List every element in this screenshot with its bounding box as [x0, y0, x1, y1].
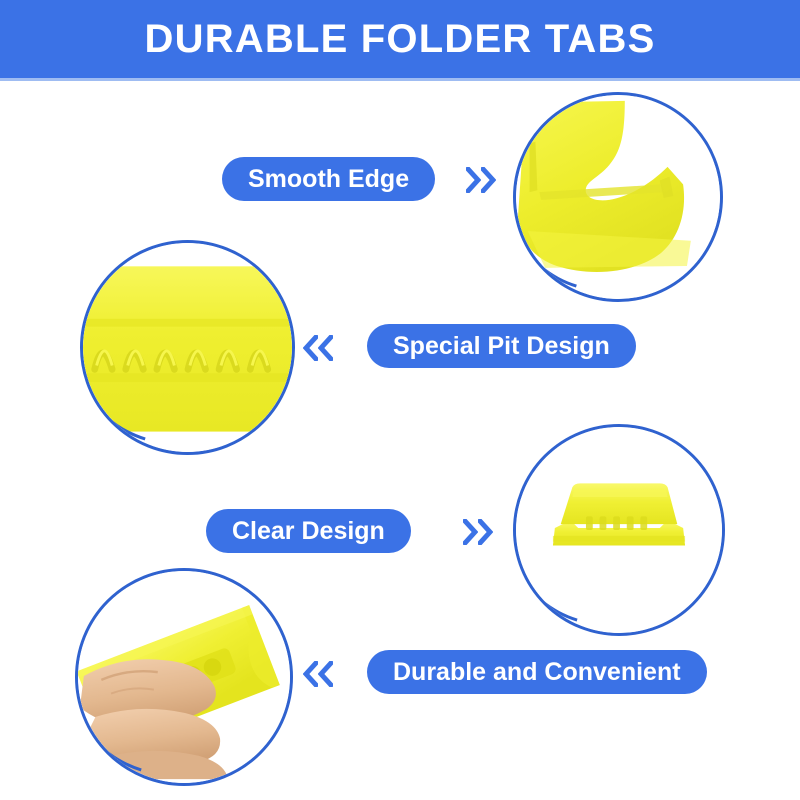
double-chevron-left-icon [303, 654, 333, 694]
flange-shadow-line [553, 536, 685, 542]
product-infographic: DURABLE FOLDER TABS Smooth Edge [0, 0, 800, 800]
chevron-left-icon [318, 661, 333, 687]
double-chevron-left-icon [303, 328, 333, 368]
tab-surface [83, 266, 292, 431]
feature-label-smooth-edge[interactable]: Smooth Edge [222, 157, 435, 201]
feature-row-special-pit-design: Special Pit Design [0, 238, 800, 453]
hand-holding-tab-illustration [78, 571, 290, 783]
header-underline-divider [0, 78, 800, 81]
chevron-right-icon [478, 519, 493, 545]
page-title: DURABLE FOLDER TABS [145, 19, 656, 59]
surface-seam-upper [83, 319, 292, 327]
feature-label-text: Durable and Convenient [393, 660, 681, 685]
chevron-right-icon [466, 167, 481, 193]
chevron-left-icon [303, 661, 318, 687]
chevron-right-icon [481, 167, 496, 193]
folder-tab-pit-pattern-illustration [83, 243, 292, 452]
surface-seam-lower [83, 373, 292, 382]
tab-head-highlight [572, 489, 667, 497]
chevron-left-icon [303, 335, 318, 361]
feature-label-durable-and-convenient[interactable]: Durable and Convenient [367, 650, 707, 694]
chevron-left-icon [318, 335, 333, 361]
feature-image-durable-and-convenient [75, 568, 293, 786]
feature-label-clear-design[interactable]: Clear Design [206, 509, 411, 553]
header-banner: DURABLE FOLDER TABS [0, 0, 800, 78]
feature-label-text: Clear Design [232, 519, 385, 544]
double-chevron-right-icon [466, 160, 496, 200]
feature-row-durable-and-convenient: Durable and Convenient [0, 566, 800, 784]
feature-label-text: Special Pit Design [393, 334, 610, 359]
feature-image-content [83, 243, 292, 452]
feature-label-special-pit-design[interactable]: Special Pit Design [367, 324, 636, 368]
double-chevron-right-icon [463, 512, 493, 552]
feature-image-content [78, 571, 290, 783]
chevron-right-icon [463, 519, 478, 545]
feature-label-text: Smooth Edge [248, 167, 409, 192]
